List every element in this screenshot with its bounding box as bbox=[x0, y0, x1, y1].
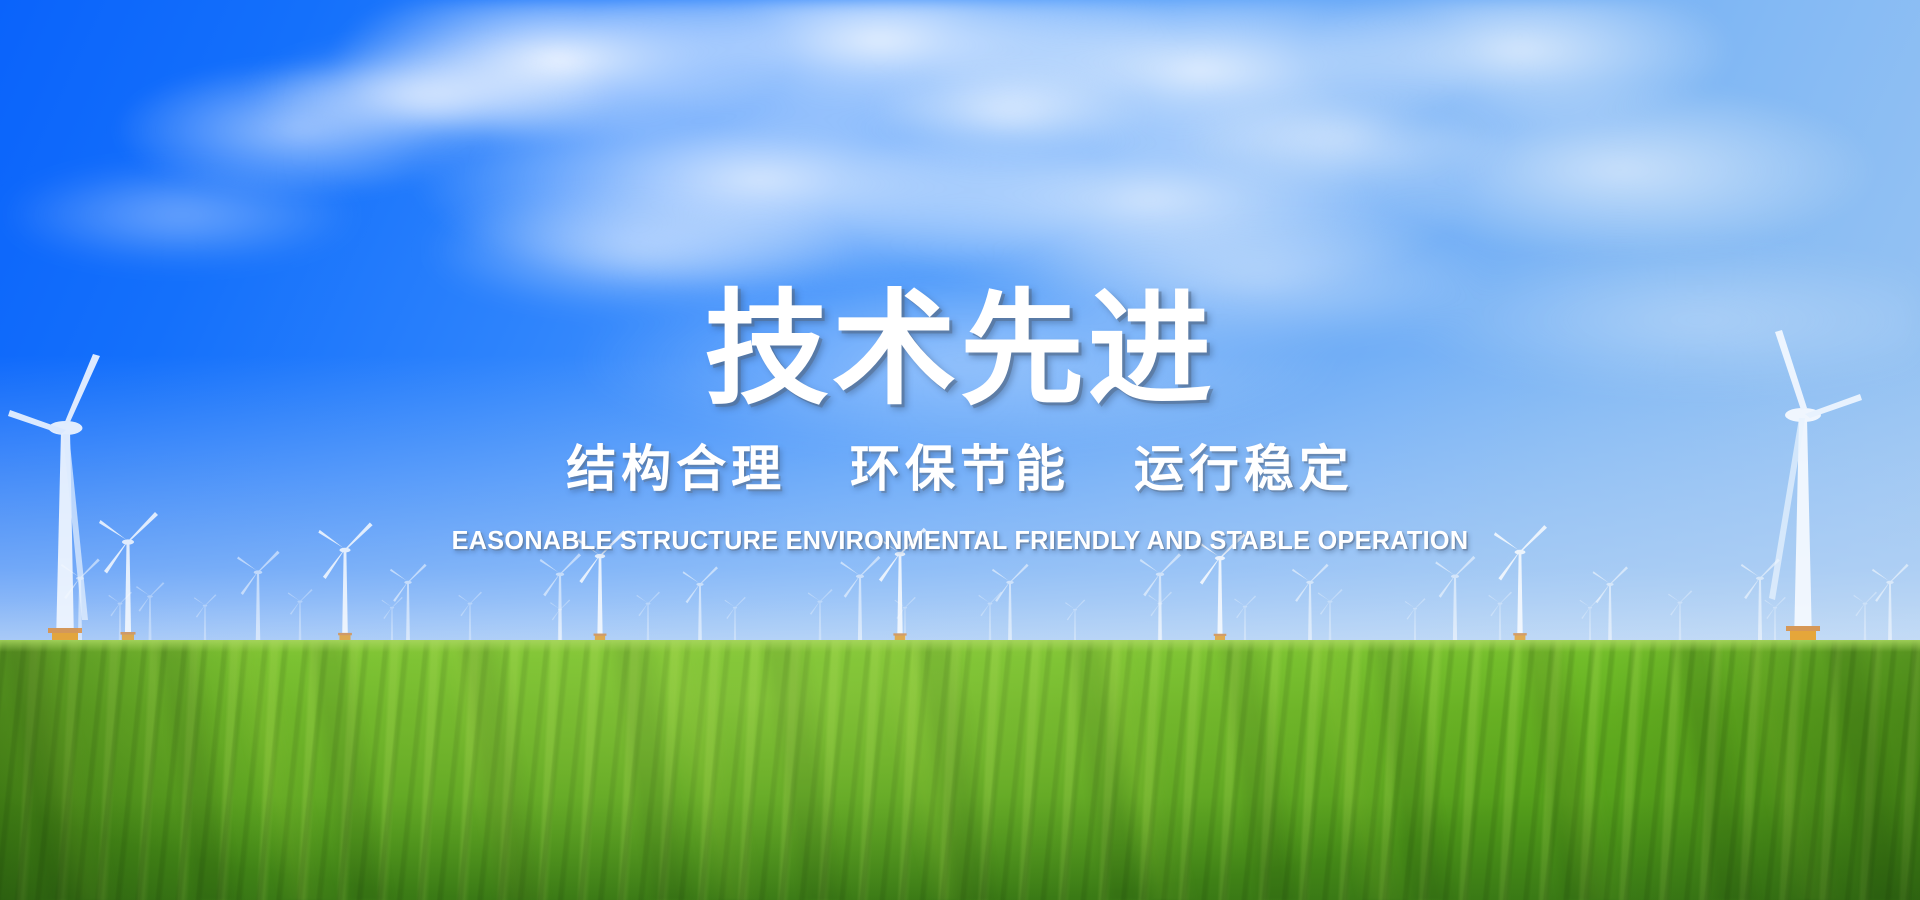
hero-banner: 技术先进 结构合理 环保节能 运行稳定 EASONABLE STRUCTURE … bbox=[0, 0, 1920, 900]
grass-field bbox=[0, 640, 1920, 900]
turbine-left-foreground bbox=[8, 354, 100, 646]
turbine-right-foreground bbox=[1769, 330, 1862, 646]
wind-turbine-farm bbox=[0, 0, 1920, 646]
grass-horizon-highlight bbox=[0, 640, 1920, 652]
grass-vignette bbox=[0, 640, 1920, 900]
